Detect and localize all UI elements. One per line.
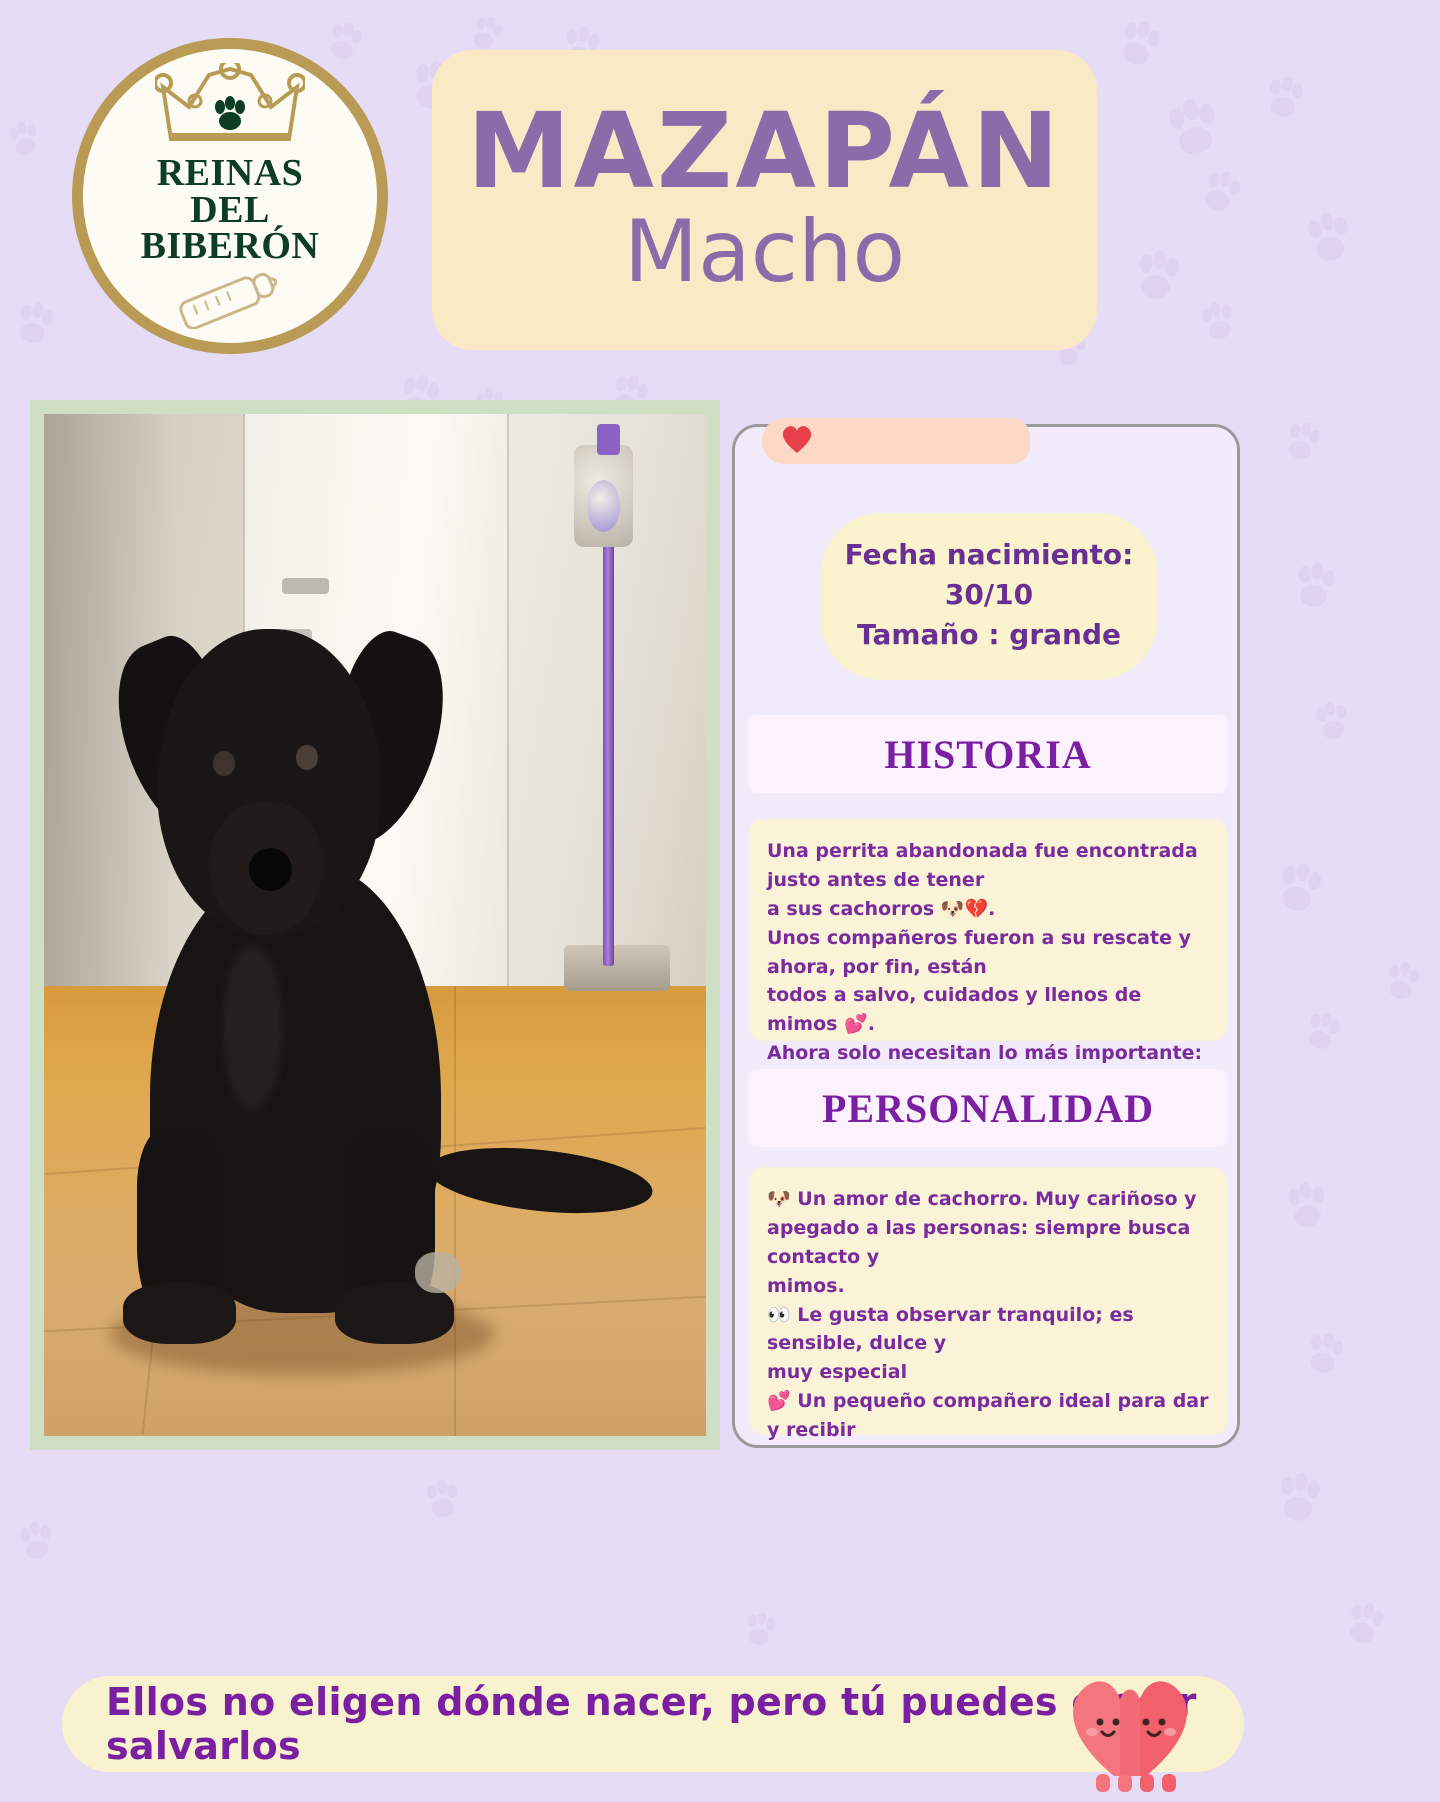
historia-line: todos a salvo, cuidados y llenos de mimo… xyxy=(767,981,1211,1039)
baby-bottle-icon xyxy=(166,269,294,333)
paw-print-icon xyxy=(1295,1005,1349,1059)
paw-print-icon xyxy=(1275,415,1328,468)
historia-body: Una perrita abandonada fue encontrada ju… xyxy=(749,819,1227,1041)
organization-logo: REINAS DEL BIBERÓN xyxy=(72,38,388,354)
historia-line: Unos compañeros fueron a su rescate y ah… xyxy=(767,924,1211,982)
paw-print-icon xyxy=(1268,1468,1329,1529)
paw-print-icon xyxy=(1295,1325,1352,1382)
footer-banner: Ellos no eligen dónde nacer, pero tú pue… xyxy=(62,1676,1244,1772)
historia-heading-text: HISTORIA xyxy=(884,731,1091,778)
historia-heading: HISTORIA xyxy=(749,715,1227,793)
pet-name: MAZAPÁN xyxy=(467,99,1062,203)
personalidad-heading-text: PERSONALIDAD xyxy=(822,1085,1154,1132)
personalidad-line: 🐶 Un amor de cachorro. Muy cariñoso y xyxy=(767,1185,1211,1214)
personalidad-line: 👀 Le gusta observar tranquilo; es sensib… xyxy=(767,1301,1211,1359)
birth-info-pill: Fecha nacimiento: 30/10 Tamaño : grande xyxy=(821,513,1157,680)
personalidad-line: mimos. xyxy=(767,1272,1211,1301)
logo-line-3: BIBERÓN xyxy=(141,228,320,264)
paw-print-icon xyxy=(1335,1595,1394,1654)
paw-print-icon xyxy=(1285,557,1343,615)
personalidad-line: apegado a las personas: siempre busca co… xyxy=(767,1214,1211,1272)
birth-date: 30/10 xyxy=(837,575,1141,615)
paw-print-icon xyxy=(11,1517,62,1568)
size-label: Tamaño : grande xyxy=(837,615,1141,655)
personalidad-line: amor. xyxy=(767,1445,1211,1448)
paw-print-icon xyxy=(737,1607,782,1652)
two-hugging-hearts-icon xyxy=(1050,1648,1210,1798)
logo-line-1: REINAS xyxy=(141,155,320,191)
personalidad-heading: PERSONALIDAD xyxy=(749,1069,1227,1147)
logo-wordmark: REINAS DEL BIBERÓN xyxy=(141,155,320,264)
poster-header: REINAS DEL BIBERÓN MAZAPÁN Macho xyxy=(0,0,1440,400)
birth-label: Fecha nacimiento: xyxy=(837,535,1141,575)
paw-print-icon xyxy=(1306,696,1358,748)
logo-line-2: DEL xyxy=(141,192,320,228)
info-card-tab xyxy=(762,418,1030,464)
pet-info-card: Fecha nacimiento: 30/10 Tamaño : grande … xyxy=(732,424,1240,1448)
paw-print-icon xyxy=(1377,957,1428,1008)
pet-photo xyxy=(44,414,706,1436)
personalidad-line: 💕 Un pequeño compañero ideal para dar y … xyxy=(767,1387,1211,1445)
personalidad-body: 🐶 Un amor de cachorro. Muy cariñoso y ap… xyxy=(749,1167,1227,1435)
historia-line: a sus cachorros 🐶💔. xyxy=(767,895,1211,924)
pet-sex: Macho xyxy=(624,209,905,295)
historia-line: Una perrita abandonada fue encontrada ju… xyxy=(767,837,1211,895)
title-banner: MAZAPÁN Macho xyxy=(432,50,1097,350)
crown-with-paw-icon xyxy=(155,63,305,153)
heart-icon xyxy=(780,423,814,459)
paw-print-icon xyxy=(1277,1177,1337,1237)
paw-print-icon xyxy=(1265,855,1331,921)
pet-photo-frame xyxy=(30,400,720,1450)
paw-print-icon xyxy=(418,1476,466,1524)
personalidad-line: muy especial xyxy=(767,1358,1211,1387)
